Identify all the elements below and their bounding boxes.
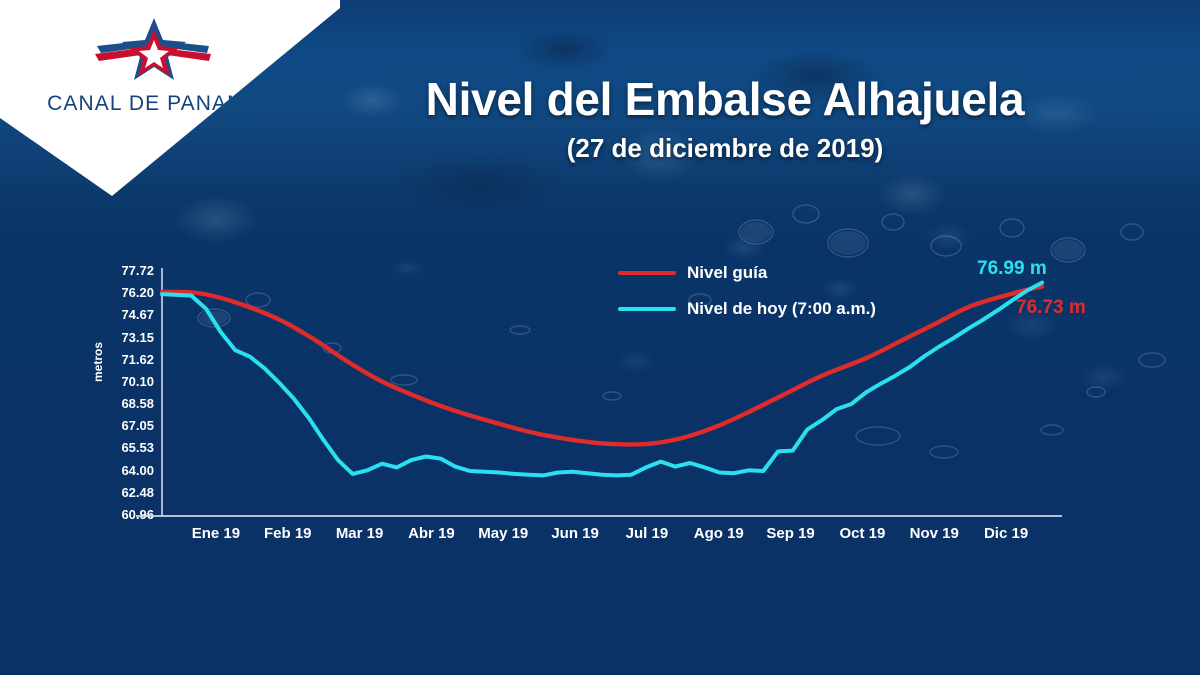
chart: metros 77.7276.2074.6773.1571.6270.1068.… bbox=[0, 0, 1200, 675]
legend-label-nivel-de-hoy: Nivel de hoy (7:00 a.m.) bbox=[687, 299, 876, 319]
legend-label-nivel-guia: Nivel guía bbox=[687, 263, 767, 283]
legend-item-nivel-guia: Nivel guía bbox=[618, 263, 767, 283]
annotation-nivel-de-hoy-value: 76.99 m bbox=[977, 258, 1047, 280]
series-line-nivel-de-hoy bbox=[162, 283, 1042, 476]
legend-swatch-nivel-guia bbox=[618, 271, 676, 275]
legend-item-nivel-de-hoy: Nivel de hoy (7:00 a.m.) bbox=[618, 299, 876, 319]
slide-canvas: CANAL DE PANAMÁ Nivel del Embalse Alhaju… bbox=[0, 0, 1200, 675]
plot-lines bbox=[0, 0, 1200, 675]
annotation-nivel-guia-value: 76.73 m bbox=[1016, 297, 1086, 319]
legend-swatch-nivel-de-hoy bbox=[618, 307, 676, 311]
